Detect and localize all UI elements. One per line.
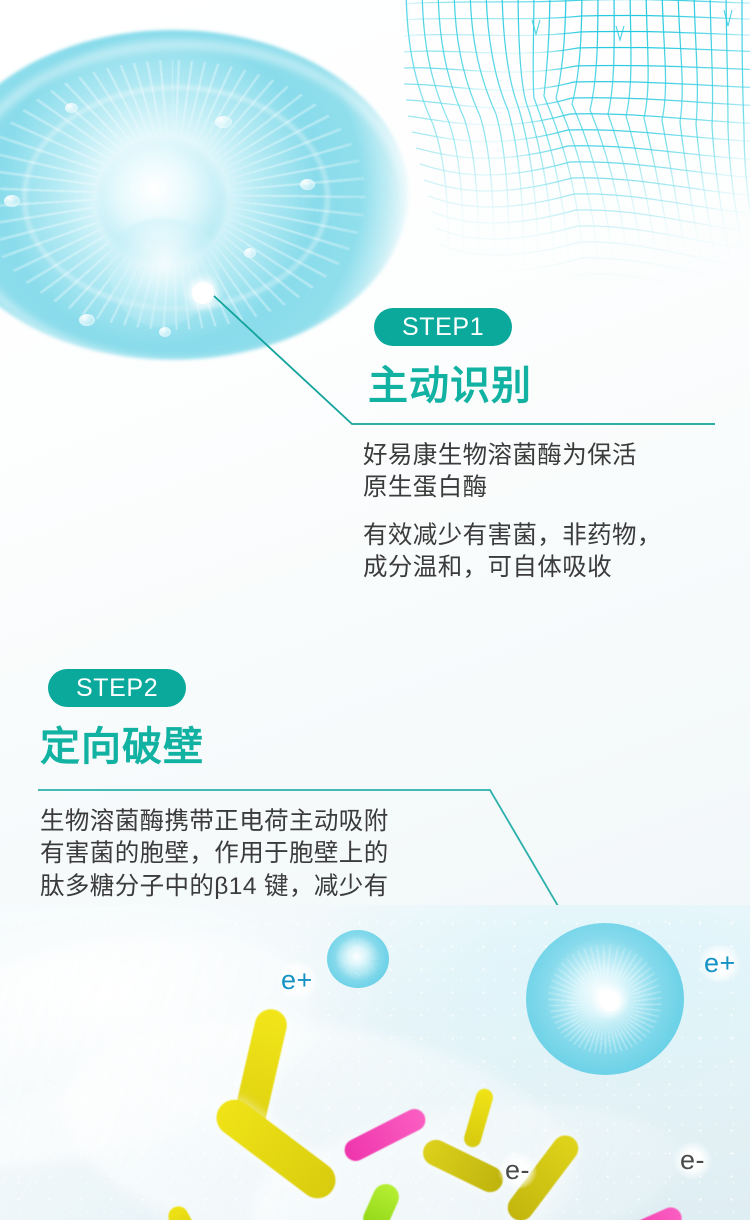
cell-bubble <box>159 327 171 337</box>
enzyme-cell-sphere-graphic <box>0 30 408 360</box>
small-enzyme-cell <box>327 930 389 988</box>
cell-bubble <box>244 248 256 258</box>
wireframe-tooth-mesh-graphic <box>404 0 750 282</box>
step2-badge: STEP2 <box>48 669 186 707</box>
charge-label-positive: e+ <box>697 945 743 982</box>
charge-label-negative: e- <box>673 1142 712 1179</box>
step1-paragraph-2: 有效减少有害菌，非药物， 成分温和，可自体吸收 <box>363 520 662 585</box>
cell-bubble <box>65 103 78 113</box>
charge-label-positive: e+ <box>274 962 320 999</box>
cell-bubble <box>79 314 95 326</box>
charge-label-negative: e- <box>498 1152 537 1189</box>
step2-heading: 定向破壁 <box>40 727 204 767</box>
promo-page: STEP1 主动识别 好易康生物溶菌酶为保活 原生蛋白酶 有效减少有害菌，非药物… <box>0 0 750 1220</box>
step1-paragraph-1: 好易康生物溶菌酶为保活 原生蛋白酶 <box>363 440 637 505</box>
cell-bubble <box>4 195 20 207</box>
bottom-cell-target-dot <box>600 991 620 1011</box>
bacteria-field-scene: e+ e+ e- e- <box>0 905 750 1220</box>
cell-bubble <box>215 116 232 128</box>
cell-bubble <box>300 179 315 190</box>
step1-heading: 主动识别 <box>368 366 532 406</box>
step1-badge: STEP1 <box>374 308 512 346</box>
